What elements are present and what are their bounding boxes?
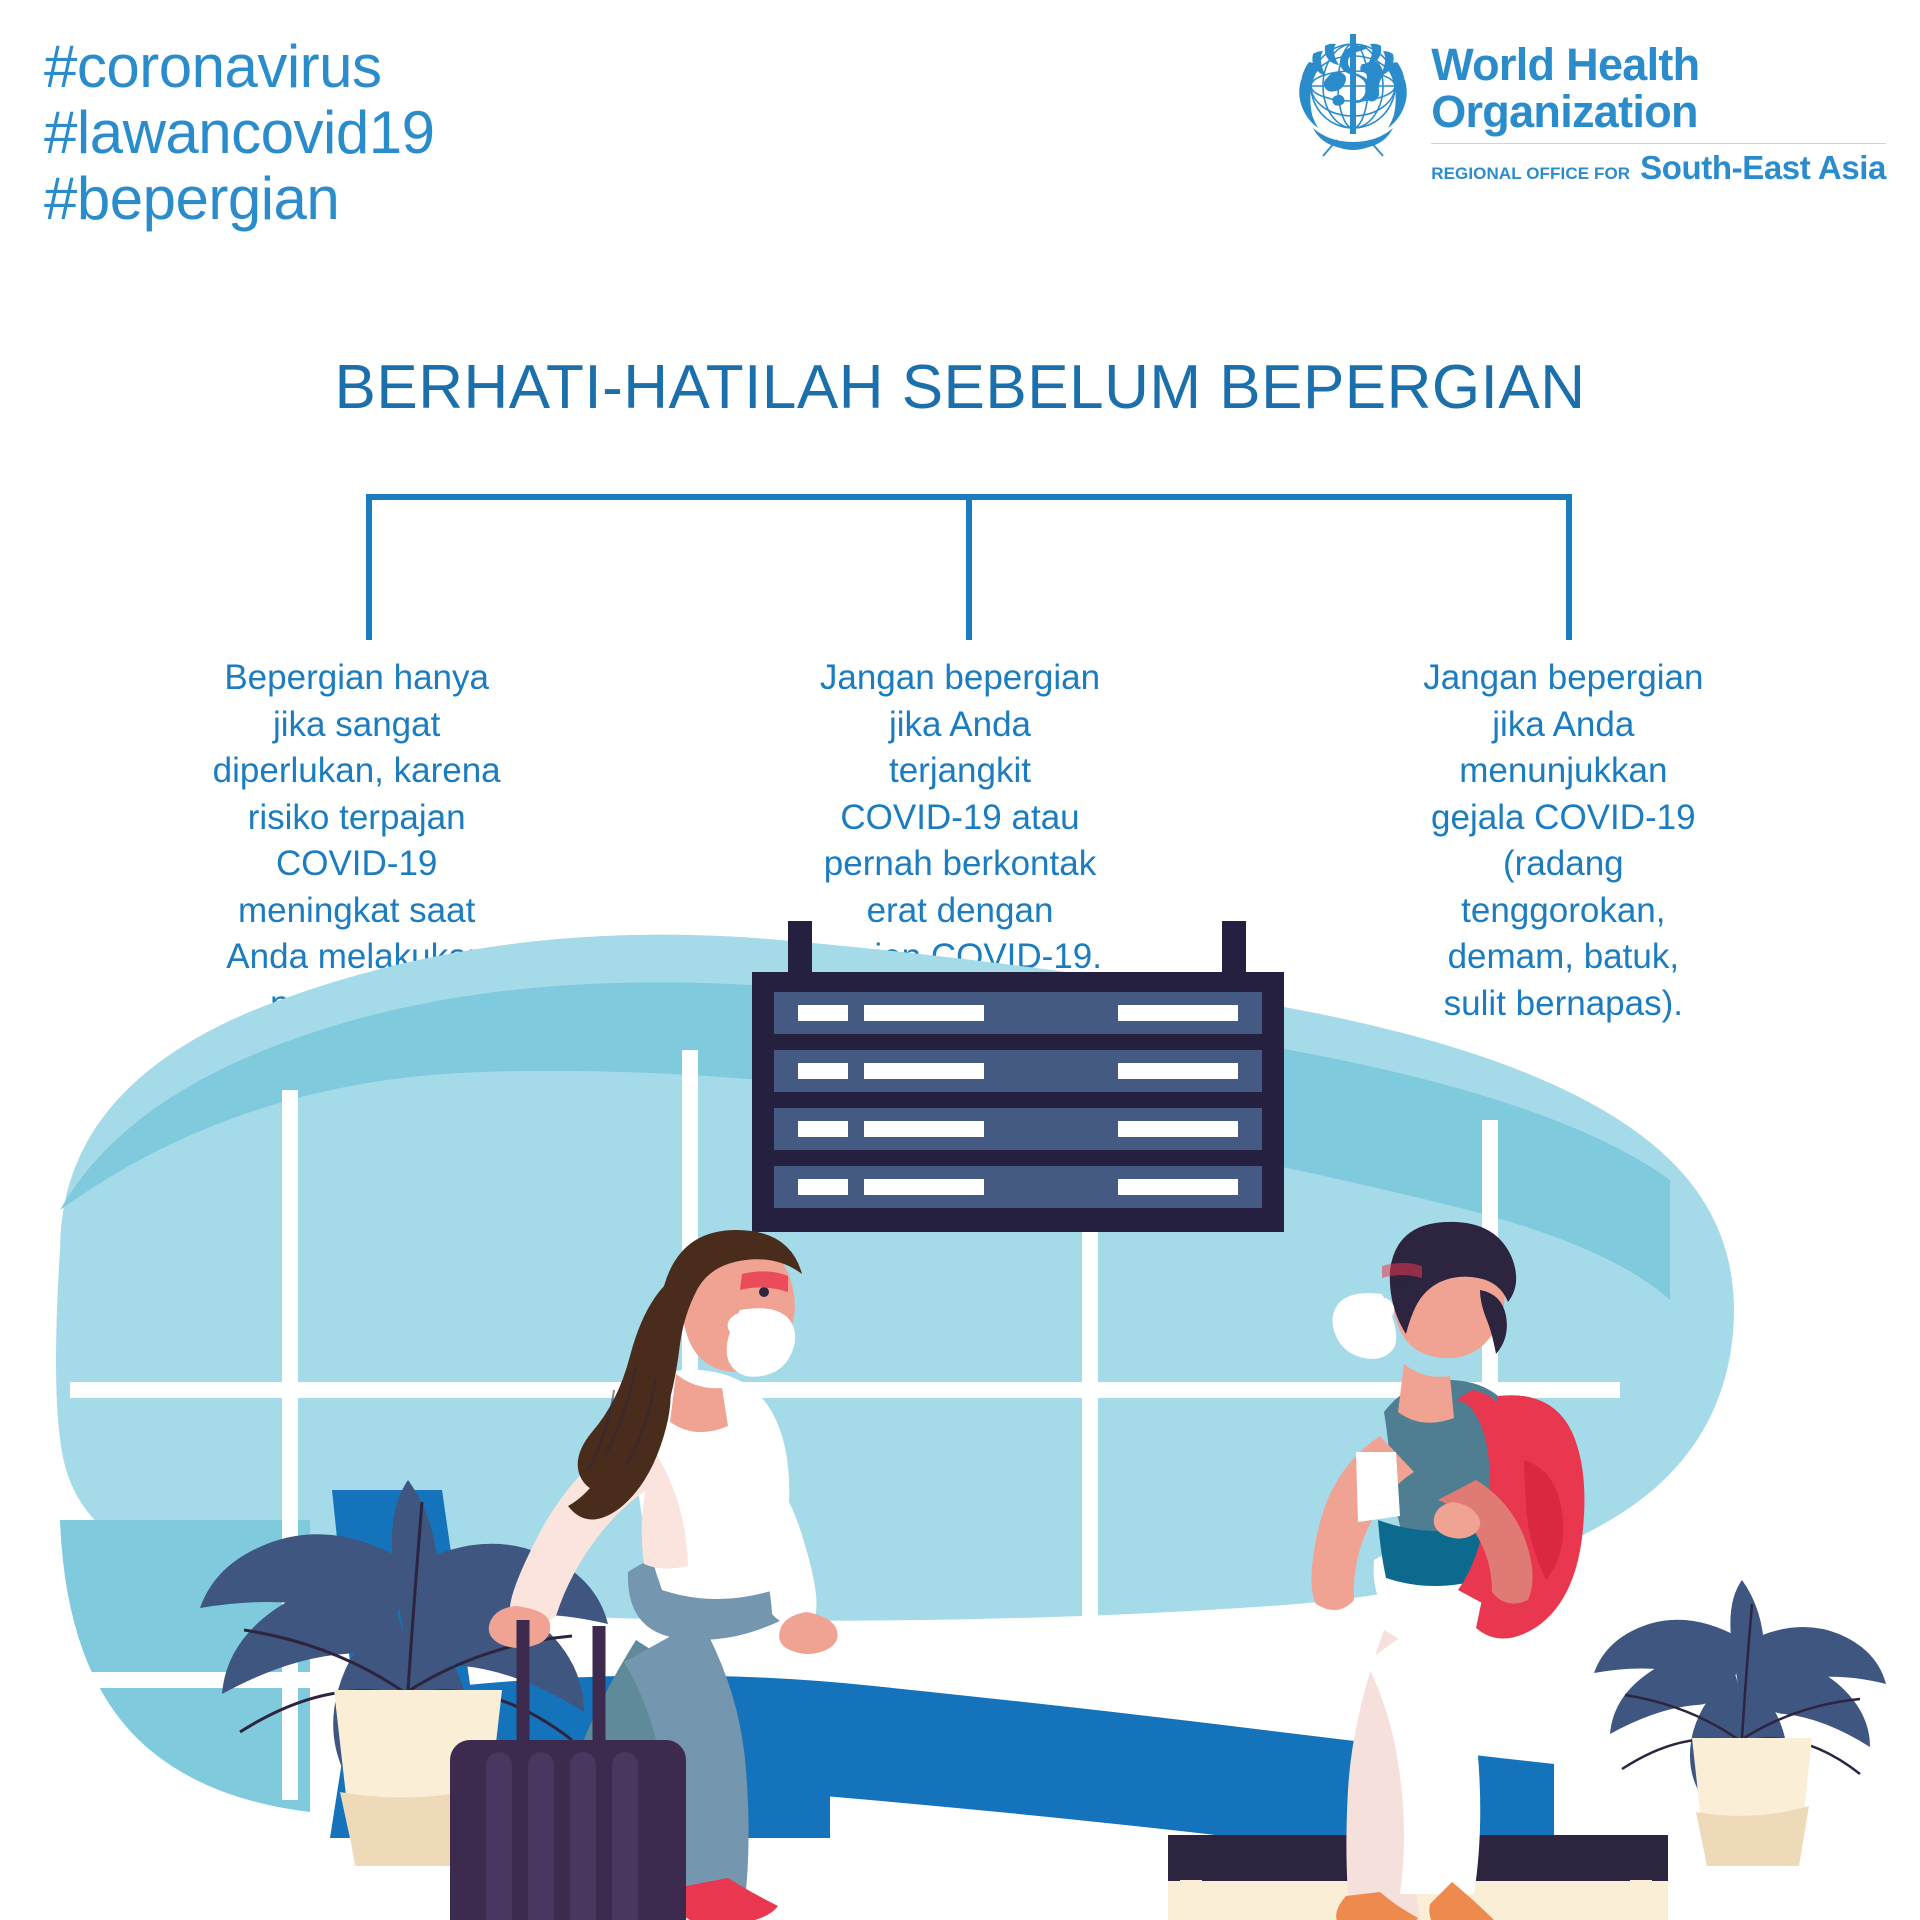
board-cell bbox=[798, 1063, 848, 1079]
advice-line: terjangkit bbox=[753, 748, 1166, 795]
board-cell bbox=[1118, 1179, 1238, 1195]
board-cell bbox=[864, 1063, 984, 1079]
board-cell bbox=[864, 1121, 984, 1137]
hashtag-lawancovid19: #lawancovid19 bbox=[44, 100, 434, 166]
page-title: BERHATI-HATILAH SEBELUM BEPERGIAN bbox=[0, 352, 1920, 423]
advice-line: risiko terpajan bbox=[150, 795, 563, 842]
who-logo-divider bbox=[1431, 143, 1886, 144]
board-cell bbox=[1118, 1063, 1238, 1079]
advice-line: gejala COVID-19 bbox=[1357, 795, 1770, 842]
board-cell bbox=[1118, 1121, 1238, 1137]
who-name-line2: Organization bbox=[1431, 89, 1886, 136]
who-logo: World Health Organization REGIONAL OFFIC… bbox=[1291, 20, 1886, 187]
board-cell bbox=[864, 1005, 984, 1021]
advice-line: diperlukan, karena bbox=[150, 748, 563, 795]
advice-line: Jangan bepergian bbox=[1357, 655, 1770, 702]
who-region-name: South-East Asia bbox=[1640, 149, 1886, 187]
airport-illustration bbox=[0, 920, 1920, 1920]
advice-line: COVID-19 atau bbox=[753, 795, 1166, 842]
bench-leg-left bbox=[1180, 1880, 1202, 1920]
bench-leg-right bbox=[1630, 1880, 1652, 1920]
who-emblem-icon bbox=[1291, 20, 1415, 180]
board-cell bbox=[798, 1179, 848, 1195]
advice-line: menunjukkan bbox=[1357, 748, 1770, 795]
who-logo-text: World Health Organization REGIONAL OFFIC… bbox=[1431, 20, 1886, 187]
advice-line: Bepergian hanya bbox=[150, 655, 563, 702]
potted-plant-right bbox=[1594, 1580, 1886, 1866]
traveler-eye bbox=[759, 1287, 769, 1297]
advice-line: COVID-19 bbox=[150, 841, 563, 888]
hashtag-coronavirus: #coronavirus bbox=[44, 34, 434, 100]
male-eye bbox=[1395, 1275, 1405, 1285]
suitcase-body bbox=[450, 1740, 686, 1920]
bracket-connector bbox=[0, 480, 1920, 655]
advice-line: (radang bbox=[1357, 841, 1770, 888]
advice-line: jika sangat bbox=[150, 702, 563, 749]
advice-line: Jangan bepergian bbox=[753, 655, 1166, 702]
board-cell bbox=[1118, 1005, 1238, 1021]
advice-line: jika Anda bbox=[753, 702, 1166, 749]
hashtag-bepergian: #bepergian bbox=[44, 166, 434, 232]
board-cell bbox=[798, 1005, 848, 1021]
advice-line: jika Anda bbox=[1357, 702, 1770, 749]
advice-line: pernah berkontak bbox=[753, 841, 1166, 888]
board-cell bbox=[864, 1179, 984, 1195]
poster-root: #coronavirus #lawancovid19 #bepergian bbox=[0, 0, 1920, 1920]
who-regional-prefix: REGIONAL OFFICE FOR bbox=[1431, 164, 1630, 184]
boarding-pass-icon bbox=[1356, 1452, 1400, 1522]
who-name-line1: World Health bbox=[1431, 42, 1886, 89]
hashtag-block: #coronavirus #lawancovid19 #bepergian bbox=[44, 34, 434, 232]
board-cell bbox=[798, 1121, 848, 1137]
